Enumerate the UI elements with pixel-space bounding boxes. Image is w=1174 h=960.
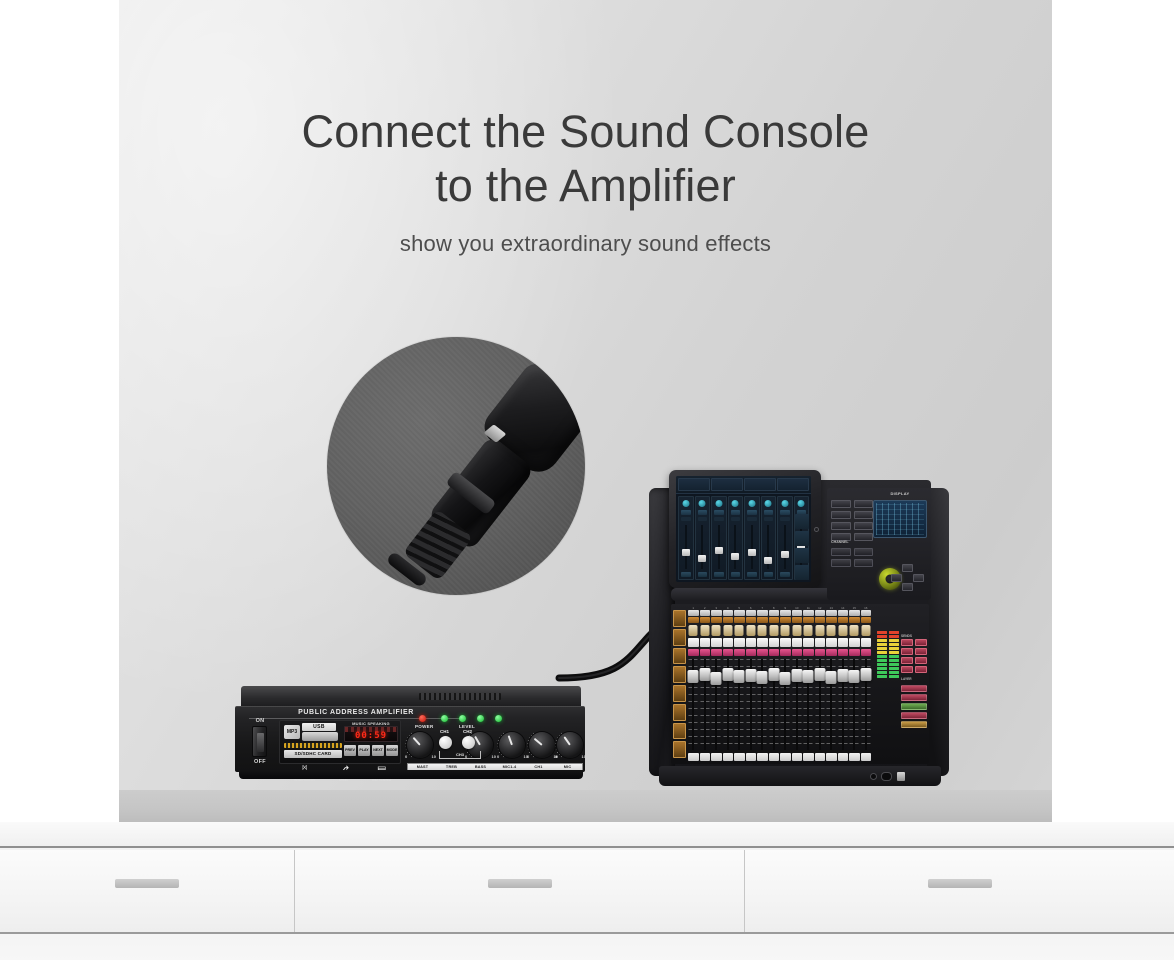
- strip-button-pink[interactable]: [757, 649, 768, 656]
- strip-button-orange[interactable]: [792, 617, 803, 623]
- strip-gain-knob[interactable]: [792, 625, 801, 636]
- app-strip-button[interactable]: [681, 510, 691, 515]
- power-rocker[interactable]: [252, 726, 267, 757]
- app-side-button[interactable]: [795, 531, 809, 546]
- strip-button-white[interactable]: [757, 638, 768, 647]
- meter-segment: [877, 675, 887, 678]
- channel-strip[interactable]: 16: [861, 606, 872, 762]
- strip-button-top[interactable]: [815, 610, 826, 616]
- channel-strip[interactable]: 5: [734, 606, 745, 762]
- strip-select-button[interactable]: [757, 753, 768, 761]
- strip-button-pink[interactable]: [769, 649, 780, 656]
- media-player-module[interactable]: MP3 USB SD/SDHC CARD MUSIC SPEAKING 00:5…: [279, 720, 401, 764]
- strip-gain-knob[interactable]: [723, 625, 732, 636]
- strip-button-orange[interactable]: [769, 617, 780, 623]
- channel-fader[interactable]: [757, 671, 768, 684]
- knob-face[interactable]: [499, 732, 525, 758]
- deck-left-button[interactable]: [673, 723, 686, 740]
- display-section-label: DISPLAY: [873, 491, 927, 496]
- media-button-next[interactable]: NEXT: [372, 745, 384, 756]
- drawer-handle[interactable]: [488, 879, 552, 888]
- channel-fader[interactable]: [791, 669, 802, 682]
- ch1-label: CH1: [440, 729, 449, 734]
- deck-left-button[interactable]: [673, 704, 686, 721]
- app-strip-footer[interactable]: [698, 572, 708, 577]
- strip-gain-knob[interactable]: [827, 625, 836, 636]
- strip-gain-knob[interactable]: [758, 625, 767, 636]
- strip-select-button[interactable]: [826, 753, 837, 761]
- app-pan-knob[interactable]: [732, 500, 739, 507]
- app-strip-footer[interactable]: [681, 572, 691, 577]
- display-button[interactable]: [831, 511, 851, 519]
- channel-strip[interactable]: 14: [838, 606, 849, 762]
- app-fader-cap[interactable]: [731, 553, 739, 560]
- app-pan-knob[interactable]: [748, 500, 755, 507]
- channel-fader[interactable]: [860, 668, 871, 681]
- app-strip-button-2[interactable]: [698, 517, 708, 521]
- app-fader-cap[interactable]: [748, 549, 756, 556]
- sd-card-slot-label[interactable]: SD/SDHC CARD: [284, 750, 342, 758]
- app-pan-knob[interactable]: [699, 500, 706, 507]
- usb-host-port[interactable]: [882, 773, 891, 780]
- strip-button-white[interactable]: [734, 638, 745, 647]
- cursor-dpad[interactable]: [891, 564, 925, 592]
- console-right-button-block: SENDS LAYER: [901, 634, 927, 758]
- channel-strip[interactable]: 10: [792, 606, 803, 762]
- media-button-prev[interactable]: PREV: [344, 745, 356, 756]
- app-fader-cap[interactable]: [698, 555, 706, 562]
- app-strip-button-2[interactable]: [714, 517, 724, 521]
- knob-min-label: 0: [497, 754, 499, 759]
- strip-select-button[interactable]: [746, 753, 757, 761]
- strip-button-pink[interactable]: [792, 649, 803, 656]
- strip-button-pink[interactable]: [734, 649, 745, 656]
- channel-strip[interactable]: 6: [746, 606, 757, 762]
- strip-button-white[interactable]: [700, 638, 711, 647]
- xlr-connector-closeup: [327, 337, 585, 595]
- strip-gain-knob[interactable]: [712, 625, 721, 636]
- strip-button-orange[interactable]: [700, 617, 711, 623]
- strip-button-orange[interactable]: [723, 617, 734, 623]
- strip-select-button[interactable]: [792, 753, 803, 761]
- knob-face[interactable]: [557, 732, 583, 758]
- app-channel-strip[interactable]: [777, 496, 793, 580]
- app-strip-footer[interactable]: [747, 572, 757, 577]
- strip-button-top[interactable]: [838, 610, 849, 616]
- strip-button-pink[interactable]: [746, 649, 757, 656]
- channel-button[interactable]: [831, 548, 851, 556]
- app-strip-button-2[interactable]: [731, 517, 741, 521]
- channel-strip[interactable]: 12: [815, 606, 826, 762]
- cursor-down-button[interactable]: [902, 583, 913, 591]
- knob-master[interactable]: 0 10: [407, 732, 433, 758]
- power-switch[interactable]: ON OFF: [245, 718, 275, 766]
- app-fader-track[interactable]: [751, 525, 753, 569]
- strip-button-white[interactable]: [815, 638, 826, 647]
- headline-line-1: Connect the Sound Console: [302, 106, 870, 157]
- channel-strip[interactable]: 11: [803, 606, 814, 762]
- knob-face[interactable]: [407, 732, 433, 758]
- ch1-button[interactable]: [439, 736, 452, 749]
- level-led-1: [441, 715, 448, 722]
- app-strip-button[interactable]: [780, 510, 790, 515]
- strip-gain-knob[interactable]: [850, 625, 859, 636]
- app-strip-button-2[interactable]: [764, 517, 774, 521]
- strip-select-button[interactable]: [700, 753, 711, 761]
- strip-button-top[interactable]: [723, 610, 734, 616]
- channel-button[interactable]: [854, 548, 874, 556]
- layer-section-label: LAYER: [901, 677, 927, 681]
- sends-button[interactable]: [915, 666, 927, 673]
- strip-button-top[interactable]: [803, 610, 814, 616]
- layer-button[interactable]: [901, 703, 927, 710]
- cursor-right-button[interactable]: [913, 574, 924, 582]
- app-strip-button-2[interactable]: [747, 517, 757, 521]
- app-channel-strip[interactable]: [678, 496, 694, 580]
- deck-left-button[interactable]: [673, 741, 686, 758]
- app-side-buttons[interactable]: [795, 514, 809, 580]
- label-mic: MIC: [553, 765, 582, 769]
- app-strip-button[interactable]: [698, 510, 708, 515]
- channel-bridge-bracket: CH3: [439, 751, 481, 759]
- knob-min-label: 0: [405, 754, 407, 759]
- ch2-button[interactable]: [462, 736, 475, 749]
- channel-strip-bank[interactable]: 1 2: [688, 606, 871, 762]
- mixer-app-channel-strips[interactable]: [676, 494, 811, 582]
- app-strip-button[interactable]: [731, 510, 741, 515]
- deck-left-button-column[interactable]: [673, 610, 686, 758]
- sends-button[interactable]: [901, 666, 913, 673]
- deck-left-button[interactable]: [673, 629, 686, 646]
- app-fader-track[interactable]: [701, 525, 703, 569]
- sends-button[interactable]: [915, 648, 927, 655]
- display-button[interactable]: [854, 522, 874, 530]
- sends-button[interactable]: [915, 657, 927, 664]
- strip-select-button[interactable]: [688, 753, 699, 761]
- meter-segment: [889, 651, 899, 654]
- meter-segment: [889, 635, 899, 638]
- amplifier-brand-label: PUBLIC ADDRESS AMPLIFIER: [281, 709, 431, 716]
- power-off-label: OFF: [245, 759, 275, 765]
- display-button[interactable]: [854, 511, 874, 519]
- channel-strip[interactable]: 3: [711, 606, 722, 762]
- display-button[interactable]: [854, 533, 874, 541]
- app-fader-cap[interactable]: [715, 547, 723, 554]
- channel-fader[interactable]: [814, 668, 825, 681]
- strip-select-button[interactable]: [838, 753, 849, 761]
- cursor-up-button[interactable]: [902, 564, 913, 572]
- ch2-label: CH2: [463, 729, 472, 734]
- page-title: Connect the Sound Console to the Amplifi…: [119, 105, 1052, 213]
- strip-button-orange[interactable]: [861, 617, 872, 623]
- meter-segment: [877, 631, 887, 634]
- strip-select-button[interactable]: [723, 753, 734, 761]
- strip-button-pink[interactable]: [711, 649, 722, 656]
- app-strip-footer[interactable]: [764, 572, 774, 577]
- strip-button-top[interactable]: [700, 610, 711, 616]
- strip-gain-knob[interactable]: [746, 625, 755, 636]
- strip-select-button[interactable]: [849, 753, 860, 761]
- layer-button[interactable]: [901, 721, 927, 728]
- strip-button-pink[interactable]: [803, 649, 814, 656]
- strip-button-orange[interactable]: [746, 617, 757, 623]
- strip-button-top[interactable]: [849, 610, 860, 616]
- media-transport-buttons[interactable]: PREV PLAY NEXT MODE: [344, 745, 398, 756]
- deck-left-button[interactable]: [673, 610, 686, 627]
- channel-fader[interactable]: [768, 668, 779, 681]
- cabinet-top-rail: [0, 822, 1174, 848]
- strip-button-pink[interactable]: [780, 649, 791, 656]
- strip-button-pink[interactable]: [861, 649, 872, 656]
- channel-fader[interactable]: [837, 669, 848, 682]
- strip-button-orange[interactable]: [838, 617, 849, 623]
- strip-button-white[interactable]: [780, 638, 791, 647]
- strip-button-pink[interactable]: [849, 649, 860, 656]
- app-meter-panel: [777, 478, 809, 491]
- ipad-screen[interactable]: [676, 476, 811, 582]
- channel-button[interactable]: [831, 559, 851, 567]
- app-fader-cap[interactable]: [781, 551, 789, 558]
- strip-button-white[interactable]: [861, 638, 872, 647]
- display-button[interactable]: [831, 500, 851, 508]
- channel-fader[interactable]: [780, 672, 791, 685]
- deck-left-button[interactable]: [673, 648, 686, 665]
- strip-select-button[interactable]: [815, 753, 826, 761]
- channel-strip[interactable]: 2: [700, 606, 711, 762]
- knob-channel-1[interactable]: 0 10: [557, 732, 583, 758]
- strip-button-orange[interactable]: [780, 617, 791, 623]
- channel-fader[interactable]: [803, 670, 814, 683]
- app-strip-button[interactable]: [747, 510, 757, 515]
- channel-fader[interactable]: [734, 670, 745, 683]
- channel-strip[interactable]: 8: [769, 606, 780, 762]
- strip-select-button[interactable]: [780, 753, 791, 761]
- channel-strip[interactable]: 9: [780, 606, 791, 762]
- app-strip-button-2[interactable]: [780, 517, 790, 521]
- strip-button-pink[interactable]: [838, 649, 849, 656]
- strip-button-orange[interactable]: [849, 617, 860, 623]
- strip-select-button[interactable]: [769, 753, 780, 761]
- app-fader-track[interactable]: [784, 525, 786, 569]
- strip-button-pink[interactable]: [826, 649, 837, 656]
- bridge-label: CH3: [455, 752, 465, 757]
- meter-segment: [877, 667, 887, 670]
- app-fader-cap[interactable]: [764, 557, 772, 564]
- usb-port-slot[interactable]: [302, 732, 338, 741]
- app-strip-button[interactable]: [714, 510, 724, 515]
- app-strip-button[interactable]: [764, 510, 774, 515]
- strip-gain-knob[interactable]: [804, 625, 813, 636]
- app-pan-knob[interactable]: [798, 500, 805, 507]
- public-address-amplifier: PUBLIC ADDRESS AMPLIFIER ON OFF MP3 USB …: [235, 686, 585, 781]
- app-pan-knob[interactable]: [715, 500, 722, 507]
- strip-button-orange[interactable]: [688, 617, 699, 623]
- headphone-jack[interactable]: [871, 774, 876, 779]
- display-button[interactable]: [854, 500, 874, 508]
- strip-button-white[interactable]: [838, 638, 849, 647]
- app-channel-strip[interactable]: [695, 496, 711, 580]
- home-button-icon[interactable]: [814, 527, 819, 532]
- strip-button-top[interactable]: [861, 610, 872, 616]
- strip-button-white[interactable]: [688, 638, 699, 647]
- power-on-label: ON: [245, 718, 275, 724]
- deck-left-button[interactable]: [673, 685, 686, 702]
- meter-segment: [889, 663, 899, 666]
- strip-button-pink[interactable]: [688, 649, 699, 656]
- strip-button-white[interactable]: [711, 638, 722, 647]
- app-pan-knob[interactable]: [781, 500, 788, 507]
- app-strip-footer[interactable]: [780, 572, 790, 577]
- strip-button-white[interactable]: [769, 638, 780, 647]
- knob-min-label: 0: [527, 754, 529, 759]
- app-fader-track[interactable]: [734, 525, 736, 569]
- meter-segment: [889, 655, 899, 658]
- layer-button-column[interactable]: [901, 685, 927, 728]
- app-channel-strip[interactable]: [761, 496, 777, 580]
- channel-strip[interactable]: 7: [757, 606, 768, 762]
- drawer-handle[interactable]: [115, 879, 179, 888]
- channel-fader[interactable]: [699, 668, 710, 681]
- app-fader-cap[interactable]: [682, 549, 690, 556]
- app-channel-strip[interactable]: [728, 496, 744, 580]
- knob-max-label: 10: [582, 754, 586, 759]
- app-channel-strip[interactable]: [711, 496, 727, 580]
- sends-button[interactable]: [901, 648, 913, 655]
- sends-button-grid[interactable]: [901, 639, 927, 673]
- channel-fader[interactable]: [722, 668, 733, 681]
- cabinet-drawer[interactable]: [0, 850, 295, 932]
- display-button-grid[interactable]: [831, 500, 873, 541]
- strip-button-top[interactable]: [826, 610, 837, 616]
- strip-gain-knob[interactable]: [689, 625, 698, 636]
- app-strip-button-2[interactable]: [681, 517, 691, 521]
- strip-button-white[interactable]: [803, 638, 814, 647]
- layer-button[interactable]: [901, 685, 927, 692]
- strip-select-button[interactable]: [734, 753, 745, 761]
- app-side-button[interactable]: [795, 565, 809, 580]
- ipad-tablet[interactable]: [669, 470, 821, 588]
- level-meter-left: [877, 608, 887, 678]
- app-side-button[interactable]: [795, 548, 809, 563]
- app-strip-footer[interactable]: [731, 572, 741, 577]
- sends-button[interactable]: [901, 657, 913, 664]
- channel-fader[interactable]: [849, 670, 860, 683]
- channel-fader[interactable]: [826, 671, 837, 684]
- strip-button-top[interactable]: [757, 610, 768, 616]
- strip-button-white[interactable]: [826, 638, 837, 647]
- usb-memory-stick[interactable]: [897, 772, 905, 781]
- app-meter-panel: [744, 478, 776, 491]
- strip-select-button[interactable]: [861, 753, 872, 761]
- strip-button-white[interactable]: [792, 638, 803, 647]
- channel-button[interactable]: [854, 559, 874, 567]
- strip-button-orange[interactable]: [826, 617, 837, 623]
- drawer-handle[interactable]: [928, 879, 992, 888]
- amplifier-base: [239, 770, 583, 779]
- strip-button-top[interactable]: [688, 610, 699, 616]
- app-meter-panel: [678, 478, 710, 491]
- layer-button[interactable]: [901, 712, 927, 719]
- deck-left-button[interactable]: [673, 666, 686, 683]
- sends-button[interactable]: [915, 639, 927, 646]
- knob-bass[interactable]: 0 10: [499, 732, 525, 758]
- channel-strip[interactable]: 15: [849, 606, 860, 762]
- meter-segment: [877, 655, 887, 658]
- media-brand-logo: MP3: [284, 725, 300, 739]
- strip-button-orange[interactable]: [711, 617, 722, 623]
- ventilation-slots: [419, 693, 501, 700]
- sends-button[interactable]: [901, 639, 913, 646]
- cursor-left-button[interactable]: [891, 574, 902, 582]
- strip-gain-knob[interactable]: [838, 625, 847, 636]
- strip-button-top[interactable]: [734, 610, 745, 616]
- media-button-play[interactable]: PLAY: [358, 745, 370, 756]
- strip-gain-knob[interactable]: [815, 625, 824, 636]
- strip-button-orange[interactable]: [815, 617, 826, 623]
- app-pan-knob[interactable]: [682, 500, 689, 507]
- strip-button-white[interactable]: [849, 638, 860, 647]
- strip-button-orange[interactable]: [757, 617, 768, 623]
- channel-button-grid[interactable]: [831, 548, 873, 567]
- knob-max-label: 10: [432, 754, 436, 759]
- channel-strip[interactable]: 4: [723, 606, 734, 762]
- strip-button-top[interactable]: [769, 610, 780, 616]
- strip-button-top[interactable]: [792, 610, 803, 616]
- channel-strip[interactable]: 13: [826, 606, 837, 762]
- mixer-app-meter-row: [676, 476, 811, 494]
- channel-fader[interactable]: [688, 670, 699, 683]
- console-front-jacks[interactable]: [871, 772, 915, 781]
- knob-face[interactable]: [529, 732, 555, 758]
- layer-button[interactable]: [901, 694, 927, 701]
- display-button[interactable]: [831, 522, 851, 530]
- strip-gain-knob[interactable]: [700, 625, 709, 636]
- strip-button-white[interactable]: [723, 638, 734, 647]
- strip-gain-knob[interactable]: [769, 625, 778, 636]
- channel-fader[interactable]: [711, 672, 722, 685]
- strip-gain-knob[interactable]: [735, 625, 744, 636]
- strip-button-top[interactable]: [746, 610, 757, 616]
- strip-button-top[interactable]: [711, 610, 722, 616]
- channel-strip[interactable]: 1: [688, 606, 699, 762]
- strip-button-top[interactable]: [780, 610, 791, 616]
- app-pan-knob[interactable]: [765, 500, 772, 507]
- meter-segment: [877, 643, 887, 646]
- knob-mic[interactable]: 0 10: [529, 732, 555, 758]
- strip-button-pink[interactable]: [815, 649, 826, 656]
- media-button-mode[interactable]: MODE: [386, 745, 398, 756]
- strip-button-pink[interactable]: [723, 649, 734, 656]
- strip-gain-knob[interactable]: [781, 625, 790, 636]
- app-side-button[interactable]: [795, 514, 809, 529]
- cabinet-drawer[interactable]: [745, 850, 1174, 932]
- strip-gain-knob[interactable]: [861, 625, 870, 636]
- meter-segment: [877, 663, 887, 666]
- strip-select-button[interactable]: [711, 753, 722, 761]
- strip-button-orange[interactable]: [734, 617, 745, 623]
- channel-fader[interactable]: [745, 669, 756, 682]
- app-fader-track[interactable]: [685, 525, 687, 569]
- strip-button-orange[interactable]: [803, 617, 814, 623]
- strip-select-button[interactable]: [803, 753, 814, 761]
- cabinet-drawer[interactable]: [295, 850, 745, 932]
- strip-button-pink[interactable]: [700, 649, 711, 656]
- app-channel-strip[interactable]: [744, 496, 760, 580]
- level-led-3: [477, 715, 484, 722]
- channel-section-label: CHANNEL: [831, 540, 849, 544]
- strip-button-white[interactable]: [746, 638, 757, 647]
- app-strip-footer[interactable]: [714, 572, 724, 577]
